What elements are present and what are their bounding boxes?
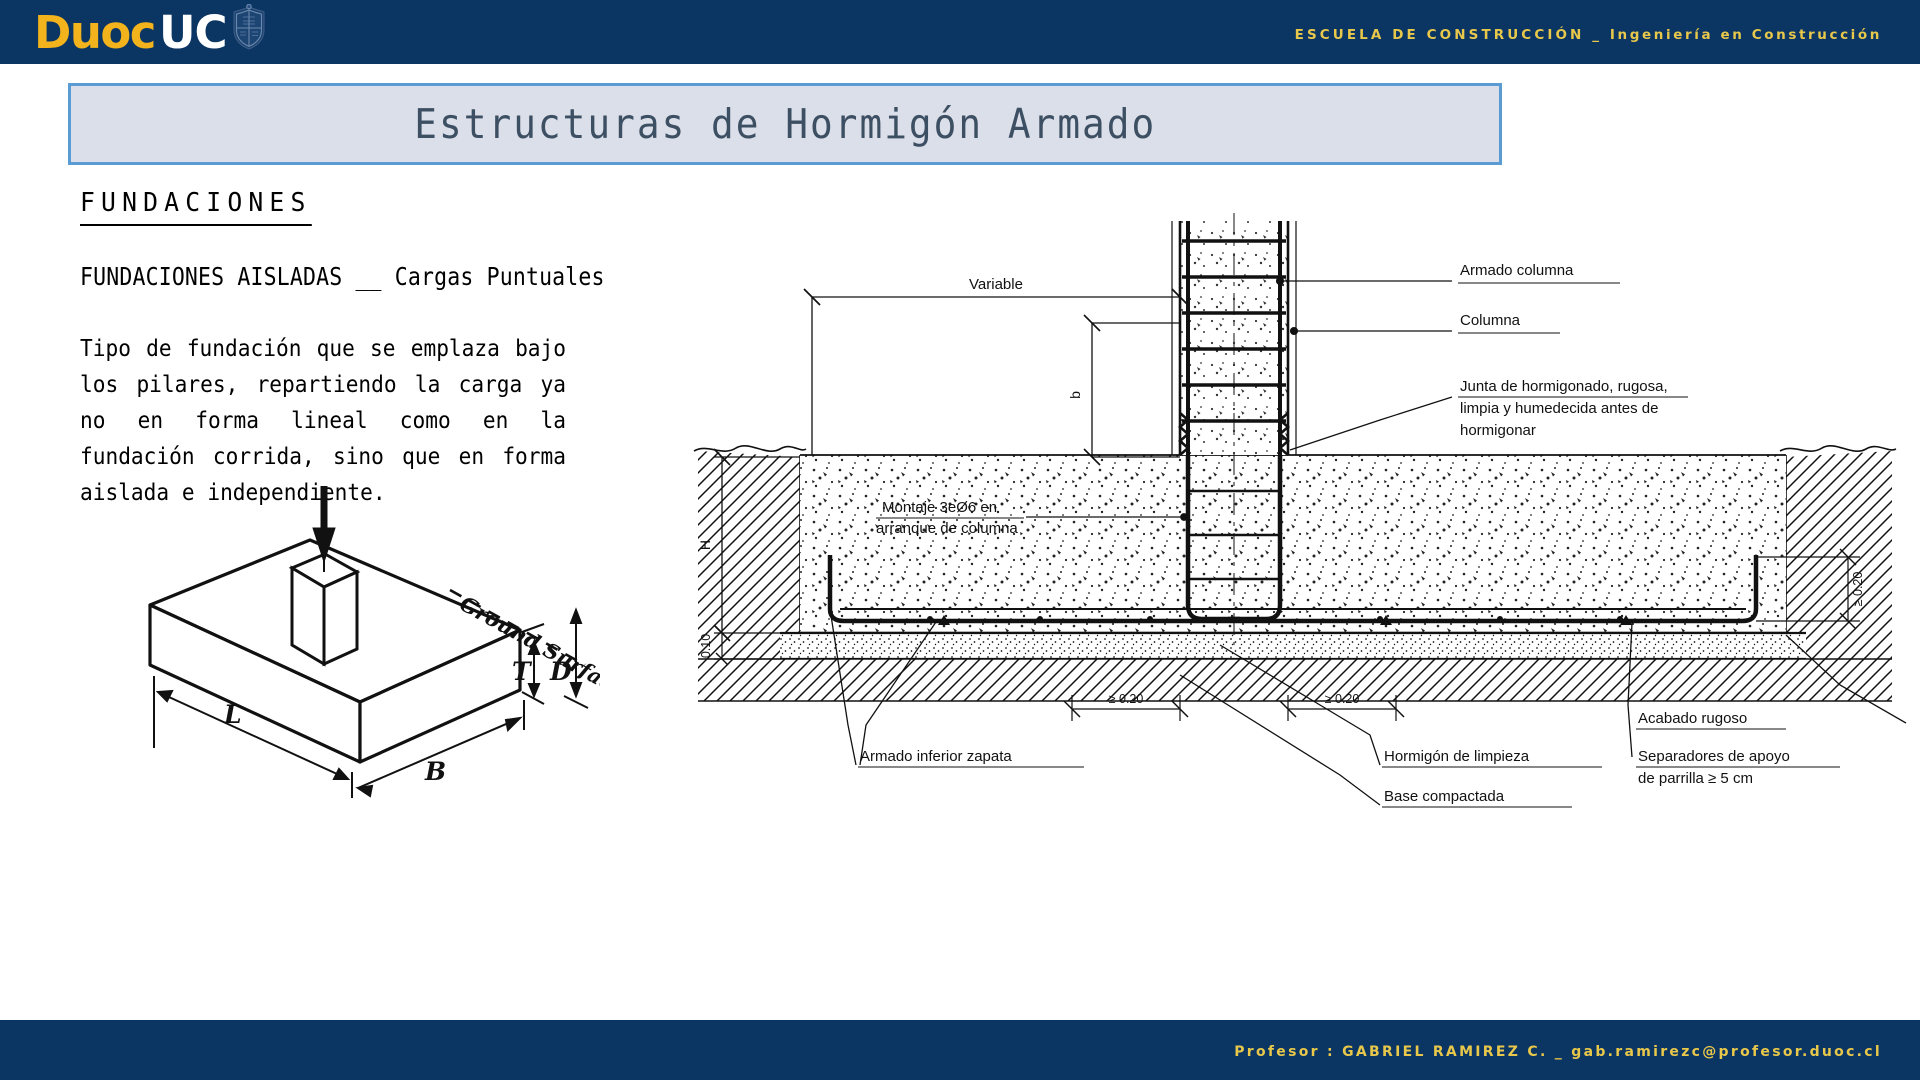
iso-label-depth: D (549, 657, 572, 686)
footer-email: gab.ramirezc@profesor.duoc.cl (1571, 1044, 1882, 1060)
leader-concrete-joint (1290, 397, 1452, 450)
dim-right-cover-label: ≥ 0.20 (1325, 692, 1360, 706)
header-divider (0, 64, 1920, 70)
header-bar: Duoc UC ESCUELA DE CONSTRUCCIÓN _ Ingeni… (0, 0, 1920, 64)
dim-left-cover-label: ≥ 0.20 (1109, 692, 1144, 706)
iso-label-width: B (424, 757, 446, 786)
dim-edge-cover-label: ≥ 0.20 (1851, 572, 1865, 607)
annotation-assembly-line1: Montaje 3eØ6 en (882, 499, 997, 516)
annotation-column-reinforcement: Armado columna (1460, 262, 1574, 279)
compacted-base-layer (698, 659, 1892, 701)
dim-column-width (1084, 315, 1180, 465)
school-label: ESCUELA DE CONSTRUCCIÓN (1295, 27, 1585, 43)
footer-professor: GABRIEL RAMIREZ C. (1342, 1044, 1547, 1060)
leader-column (1291, 328, 1452, 335)
annotation-spacers-line2: de parrilla ≥ 5 cm (1638, 770, 1753, 787)
header-separator: _ (1592, 27, 1602, 43)
dim-column-width-label: b (1067, 391, 1083, 399)
dim-cleaning-thickness-label: 0.10 (699, 634, 713, 658)
duoc-uc-logo: Duoc UC (34, 6, 269, 58)
school-program-line: ESCUELA DE CONSTRUCCIÓN _ Ingeniería en … (1295, 27, 1882, 43)
sub-heading: FUNDACIONES AISLADAS __ Cargas Puntuales (80, 262, 605, 291)
dim-variable (804, 289, 1188, 455)
program-label: Ingeniería en Construcción (1610, 27, 1882, 43)
university-crest-icon (229, 4, 269, 56)
annotation-joint-line1: Junta de hormigonado, rugosa, (1460, 378, 1668, 395)
footing-section-detail: Variable b H 0.10 (680, 205, 1910, 820)
annotation-cleaning-concrete: Hormigón de limpieza (1384, 748, 1530, 765)
annotation-assembly-line2: arranque de columna (876, 520, 1018, 537)
logo-duoc-text: Duoc (34, 10, 155, 55)
section-heading: FUNDACIONES (80, 188, 312, 226)
leader-column-reinforcement (1277, 278, 1452, 285)
isolated-footing-isometric: Ground Surface L B T (120, 480, 600, 810)
annotation-joint-line3: hormigonar (1460, 422, 1536, 439)
dim-variable-label: Variable (969, 276, 1023, 293)
footing-concrete (800, 455, 1786, 633)
cleaning-concrete-layer (780, 633, 1806, 659)
iso-label-length: L (223, 700, 242, 729)
annotation-bottom-reinforcement: Armado inferior zapata (860, 748, 1012, 765)
slide-title-box: Estructuras de Hormigón Armado (68, 83, 1502, 165)
page-title: Estructuras de Hormigón Armado (414, 100, 1156, 148)
footer-credits: Profesor : GABRIEL RAMIREZ C. _ gab.rami… (1234, 1044, 1882, 1060)
annotation-joint-line2: limpia y humedecida antes de (1460, 400, 1658, 417)
footer-prefix: Profesor : (1234, 1044, 1335, 1060)
annotation-column: Columna (1460, 312, 1521, 329)
annotation-compacted-base: Base compactada (1384, 788, 1505, 805)
annotation-spacers-line1: Separadores de apoyo (1638, 748, 1790, 765)
dim-footing-height-label: H (697, 540, 713, 550)
logo-uc-text: UC (159, 10, 227, 55)
annotation-rough-finish: Acabado rugoso (1638, 710, 1747, 727)
footer-separator: _ (1555, 1044, 1564, 1060)
iso-label-thickness: T (512, 657, 533, 686)
